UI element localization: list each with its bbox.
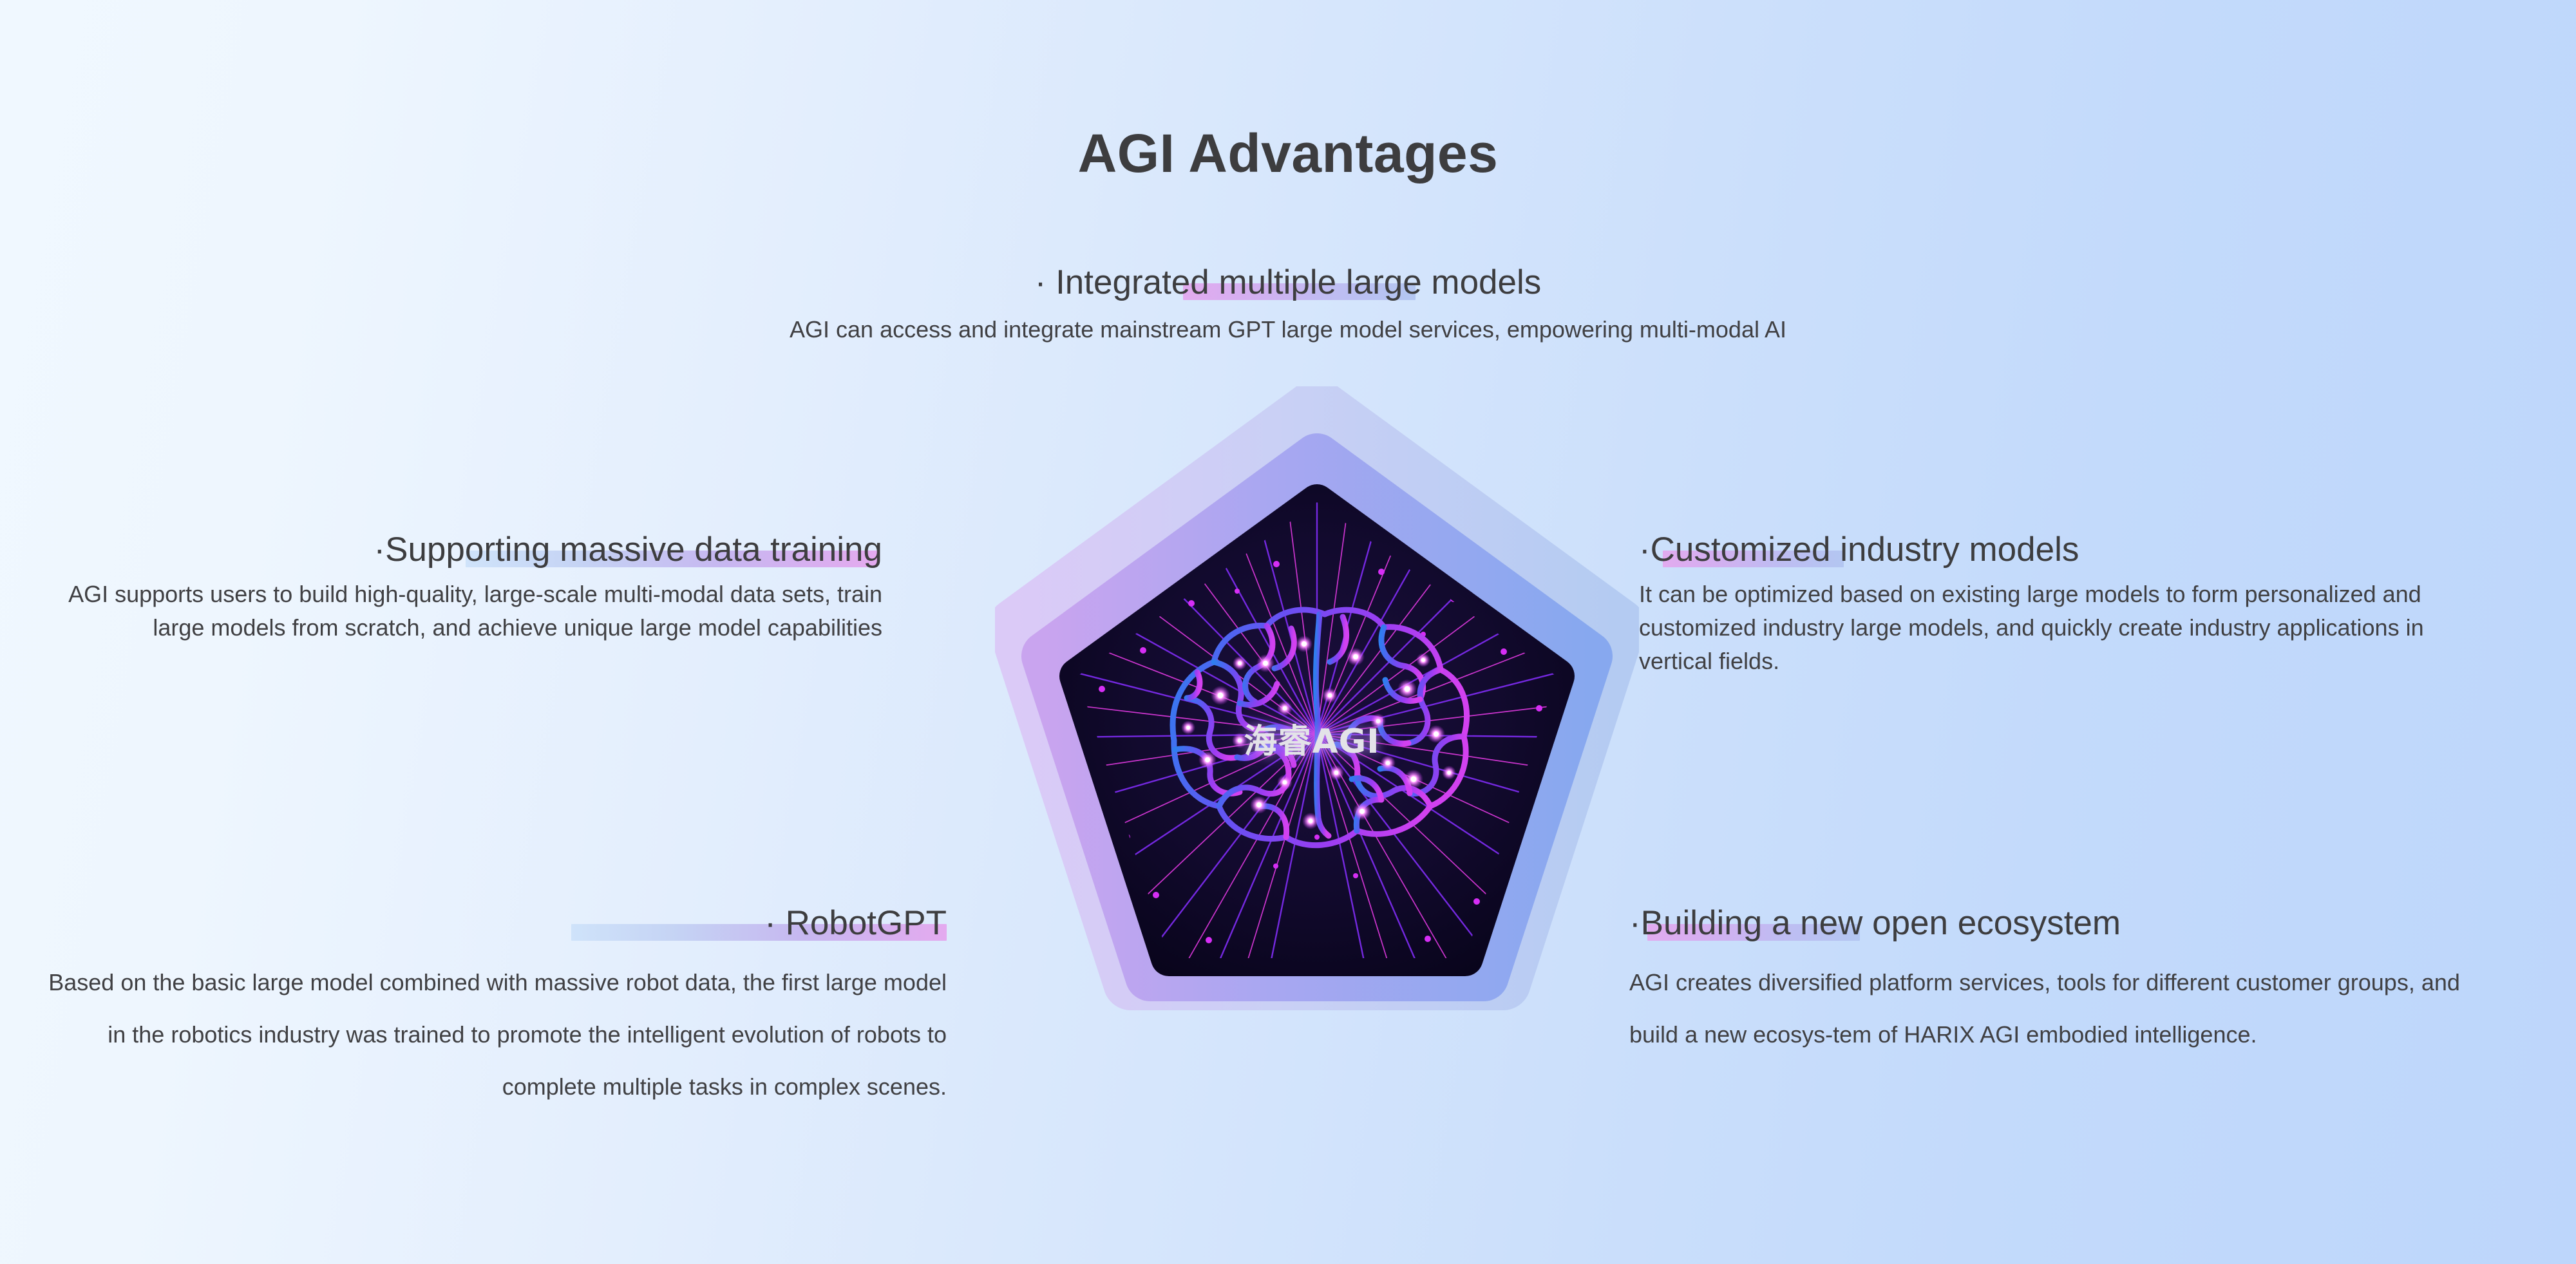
heading-text: · RobotGPT xyxy=(764,904,947,942)
feature-heading: ·Customized industry models xyxy=(1639,531,2079,569)
heading-text: ·Customized industry models xyxy=(1639,531,2079,569)
page-title: AGI Advantages xyxy=(0,122,2576,185)
agi-brain-graphic: 海睿AGI xyxy=(995,386,1639,1108)
feature-heading: · Integrated multiple large models xyxy=(1035,264,1542,301)
feature-body: It can be optimized based on existing la… xyxy=(1639,578,2476,677)
feature-block-data-training: ·Supporting massive data training AGI su… xyxy=(26,531,882,645)
feature-block-industry-models: ·Customized industry models It can be op… xyxy=(1639,531,2476,678)
pentagon-brain-svg xyxy=(995,386,1639,1108)
feature-body: Based on the basic large model combined … xyxy=(26,956,947,1113)
feature-block-open-ecosystem: ·Building a new open ecosystem AGI creat… xyxy=(1629,905,2499,1061)
feature-heading: ·Building a new open ecosystem xyxy=(1629,905,2121,942)
feature-block-integrated-models: · Integrated multiple large models AGI c… xyxy=(451,264,2125,346)
heading-text: · Integrated multiple large models xyxy=(1035,263,1542,301)
heading-text: ·Building a new open ecosystem xyxy=(1629,904,2121,942)
feature-heading: ·Supporting massive data training xyxy=(374,531,882,569)
feature-body: AGI can access and integrate mainstream … xyxy=(451,313,2125,346)
feature-heading: · RobotGPT xyxy=(764,905,947,942)
feature-block-robotgpt: · RobotGPT Based on the basic large mode… xyxy=(26,905,947,1113)
feature-body: AGI supports users to build high-quality… xyxy=(26,578,882,645)
heading-text: ·Supporting massive data training xyxy=(374,531,882,569)
feature-body: AGI creates diversified platform service… xyxy=(1629,956,2499,1061)
